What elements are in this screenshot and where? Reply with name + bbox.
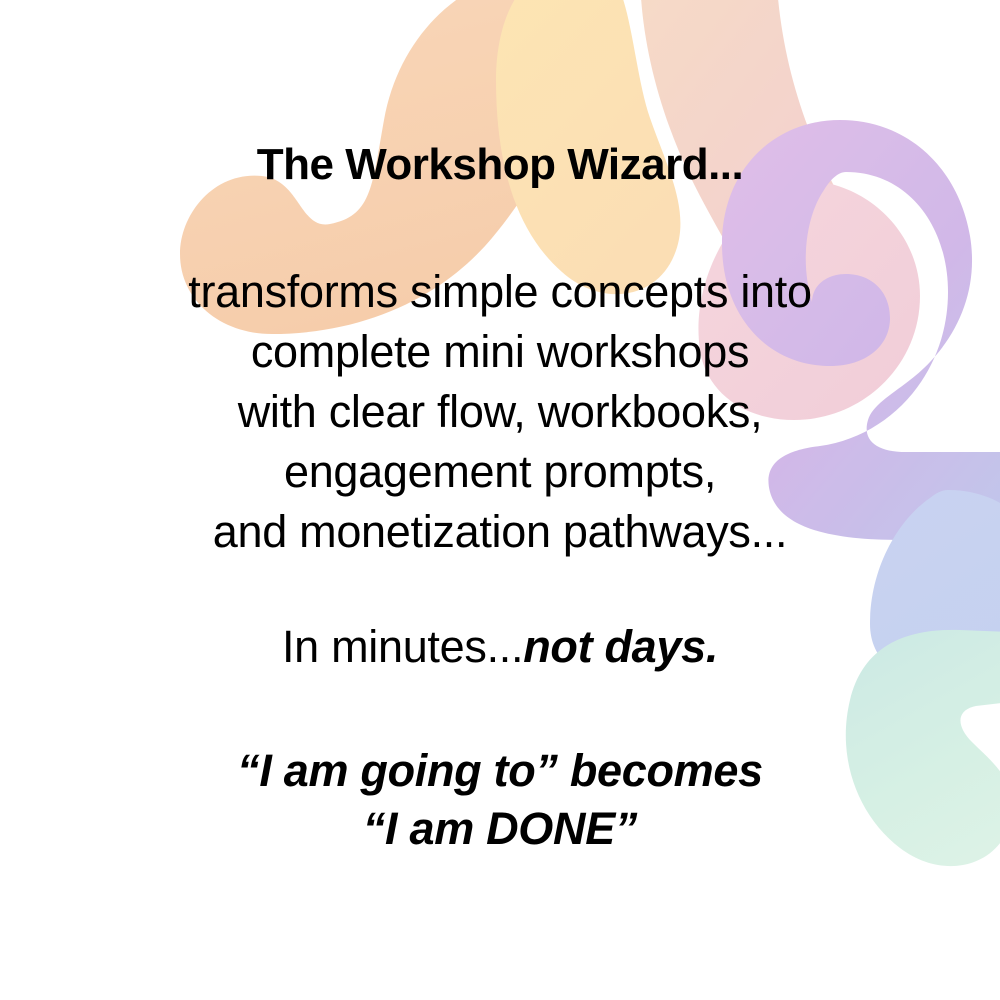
body-line-1: transforms simple concepts into xyxy=(0,262,1000,322)
quote-line-2: “I am DONE” xyxy=(0,800,1000,858)
timing-prefix: In minutes... xyxy=(282,621,523,672)
body-line-3: with clear flow, workbooks, xyxy=(0,382,1000,442)
page-title: The Workshop Wizard... xyxy=(0,141,1000,189)
slide-content: The Workshop Wizard... transforms simple… xyxy=(0,0,1000,1000)
slide-canvas: The Workshop Wizard... transforms simple… xyxy=(0,0,1000,1000)
timing-emphasis: not days. xyxy=(523,621,718,672)
body-line-4: engagement prompts, xyxy=(0,442,1000,502)
quote-line-1: “I am going to” becomes xyxy=(0,742,1000,800)
body-line-2: complete mini workshops xyxy=(0,322,1000,382)
closing-quote: “I am going to” becomes “I am DONE” xyxy=(0,742,1000,858)
body-line-5: and monetization pathways... xyxy=(0,502,1000,562)
timing-statement: In minutes...not days. xyxy=(0,621,1000,673)
body-paragraph: transforms simple concepts into complete… xyxy=(0,262,1000,562)
